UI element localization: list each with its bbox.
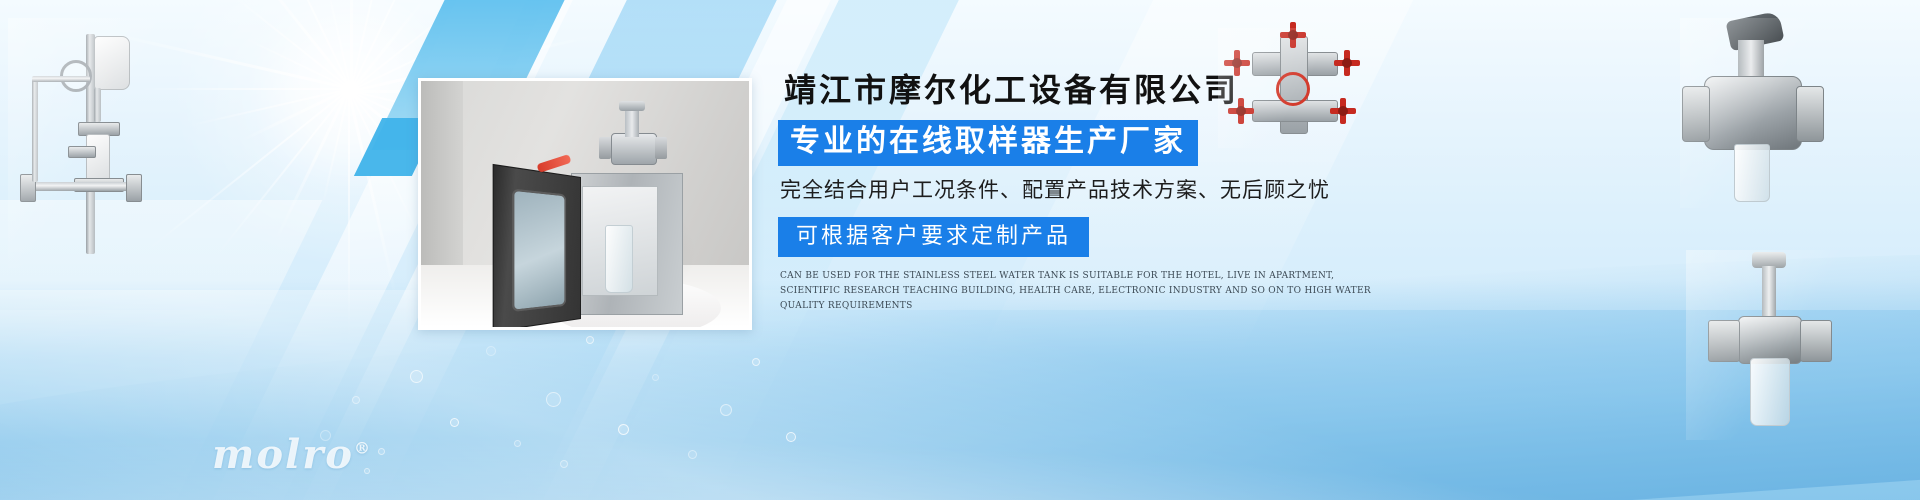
housing-stem <box>94 88 101 122</box>
bottom-valve-image <box>1686 250 1866 440</box>
product-photo <box>418 78 752 330</box>
photo-cabinet <box>571 173 683 315</box>
bubble <box>450 418 459 427</box>
diaphragm-valve-image <box>1680 18 1830 208</box>
photo-valve-assembly <box>597 111 667 177</box>
handwheel-top-icon <box>1280 22 1306 48</box>
valve-sample-bottle <box>1734 144 1770 202</box>
photo-door-window <box>512 189 566 312</box>
bubble <box>586 336 594 344</box>
bubble <box>546 392 561 407</box>
photo-valve-cap <box>619 101 645 111</box>
english-description: CAN BE USED FOR THE STAINLESS STEEL WATE… <box>780 269 1380 314</box>
handwheel-left-icon <box>1224 50 1250 76</box>
handwheel-right-icon <box>1334 50 1360 76</box>
bubble <box>752 358 760 366</box>
bottom-valve-sample-bottle <box>1750 358 1790 426</box>
photo-valve-body <box>611 133 657 165</box>
bubble <box>410 370 423 383</box>
sight-glass <box>86 134 110 182</box>
photo-valve-flange-left <box>599 137 611 159</box>
bubble <box>560 460 568 468</box>
bubble <box>352 396 360 404</box>
seal-ring-icon <box>1276 72 1310 106</box>
valve-body <box>1704 76 1802 150</box>
valve-flange-right <box>1796 86 1824 142</box>
photo-valve-flange-right <box>655 137 667 159</box>
left-equipment-image <box>8 18 168 268</box>
brand-watermark: molro® <box>212 431 372 478</box>
registered-mark-icon: ® <box>354 439 372 458</box>
bottom-valve-flange-left <box>1708 320 1740 362</box>
sampler-housing <box>94 36 130 90</box>
handwheel-lower-right-icon <box>1330 98 1356 124</box>
cross-valve-image <box>1218 28 1368 148</box>
bubble <box>786 432 796 442</box>
brand-watermark-text: molro <box>212 431 354 478</box>
bubble <box>688 450 697 459</box>
custom-product-badge: 可根据客户要求定制产品 <box>778 217 1089 257</box>
bottom-valve-flange-right <box>1800 320 1832 362</box>
bubble <box>720 404 732 416</box>
bubble <box>486 346 496 356</box>
bottom-valve-stem <box>1762 266 1776 318</box>
photo-cabinet-interior <box>582 186 658 296</box>
photo-valve-stem <box>625 109 639 137</box>
handwheel-lower-left-icon <box>1228 98 1254 124</box>
slogan-highlight-bar: 专业的在线取样器生产厂家 <box>778 120 1198 166</box>
small-flange <box>68 146 96 158</box>
promo-banner: molro® <box>0 0 1920 500</box>
description-line: 完全结合用户工况条件、配置产品技术方案、无后顾之忧 <box>780 177 1418 205</box>
valve-flange-left <box>1682 86 1710 142</box>
bubble <box>378 448 385 455</box>
bubble <box>618 424 629 435</box>
bubble <box>514 440 521 447</box>
photo-sample-bottle <box>605 225 633 293</box>
horizontal-pipe <box>24 182 134 191</box>
photo-cabinet-door <box>493 164 581 330</box>
bypass-tube-left <box>32 78 38 182</box>
flange-right-end <box>126 174 142 202</box>
bypass-tube-top <box>32 76 90 82</box>
bubble <box>652 374 659 381</box>
bottom-valve-body <box>1738 316 1802 364</box>
